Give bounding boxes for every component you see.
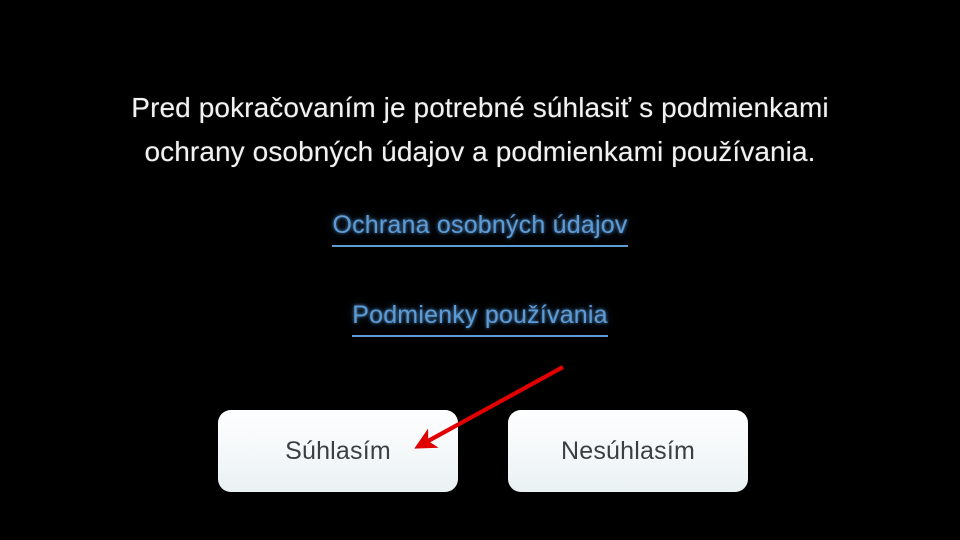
terms-link-row: Podmienky používania — [0, 299, 960, 337]
link-terms-of-use[interactable]: Podmienky používania — [352, 299, 608, 337]
annotation-arrow-icon — [0, 0, 960, 540]
disagree-button[interactable]: Nesúhlasím — [508, 410, 748, 492]
link-privacy-policy[interactable]: Ochrana osobných údajov — [332, 209, 627, 247]
consent-heading: Pred pokračovaním je potrebné súhlasiť s… — [0, 86, 960, 174]
agree-button[interactable]: Súhlasím — [218, 410, 458, 492]
privacy-link-row: Ochrana osobných údajov — [0, 209, 960, 247]
consent-screen: Pred pokračovaním je potrebné súhlasiť s… — [0, 0, 960, 540]
